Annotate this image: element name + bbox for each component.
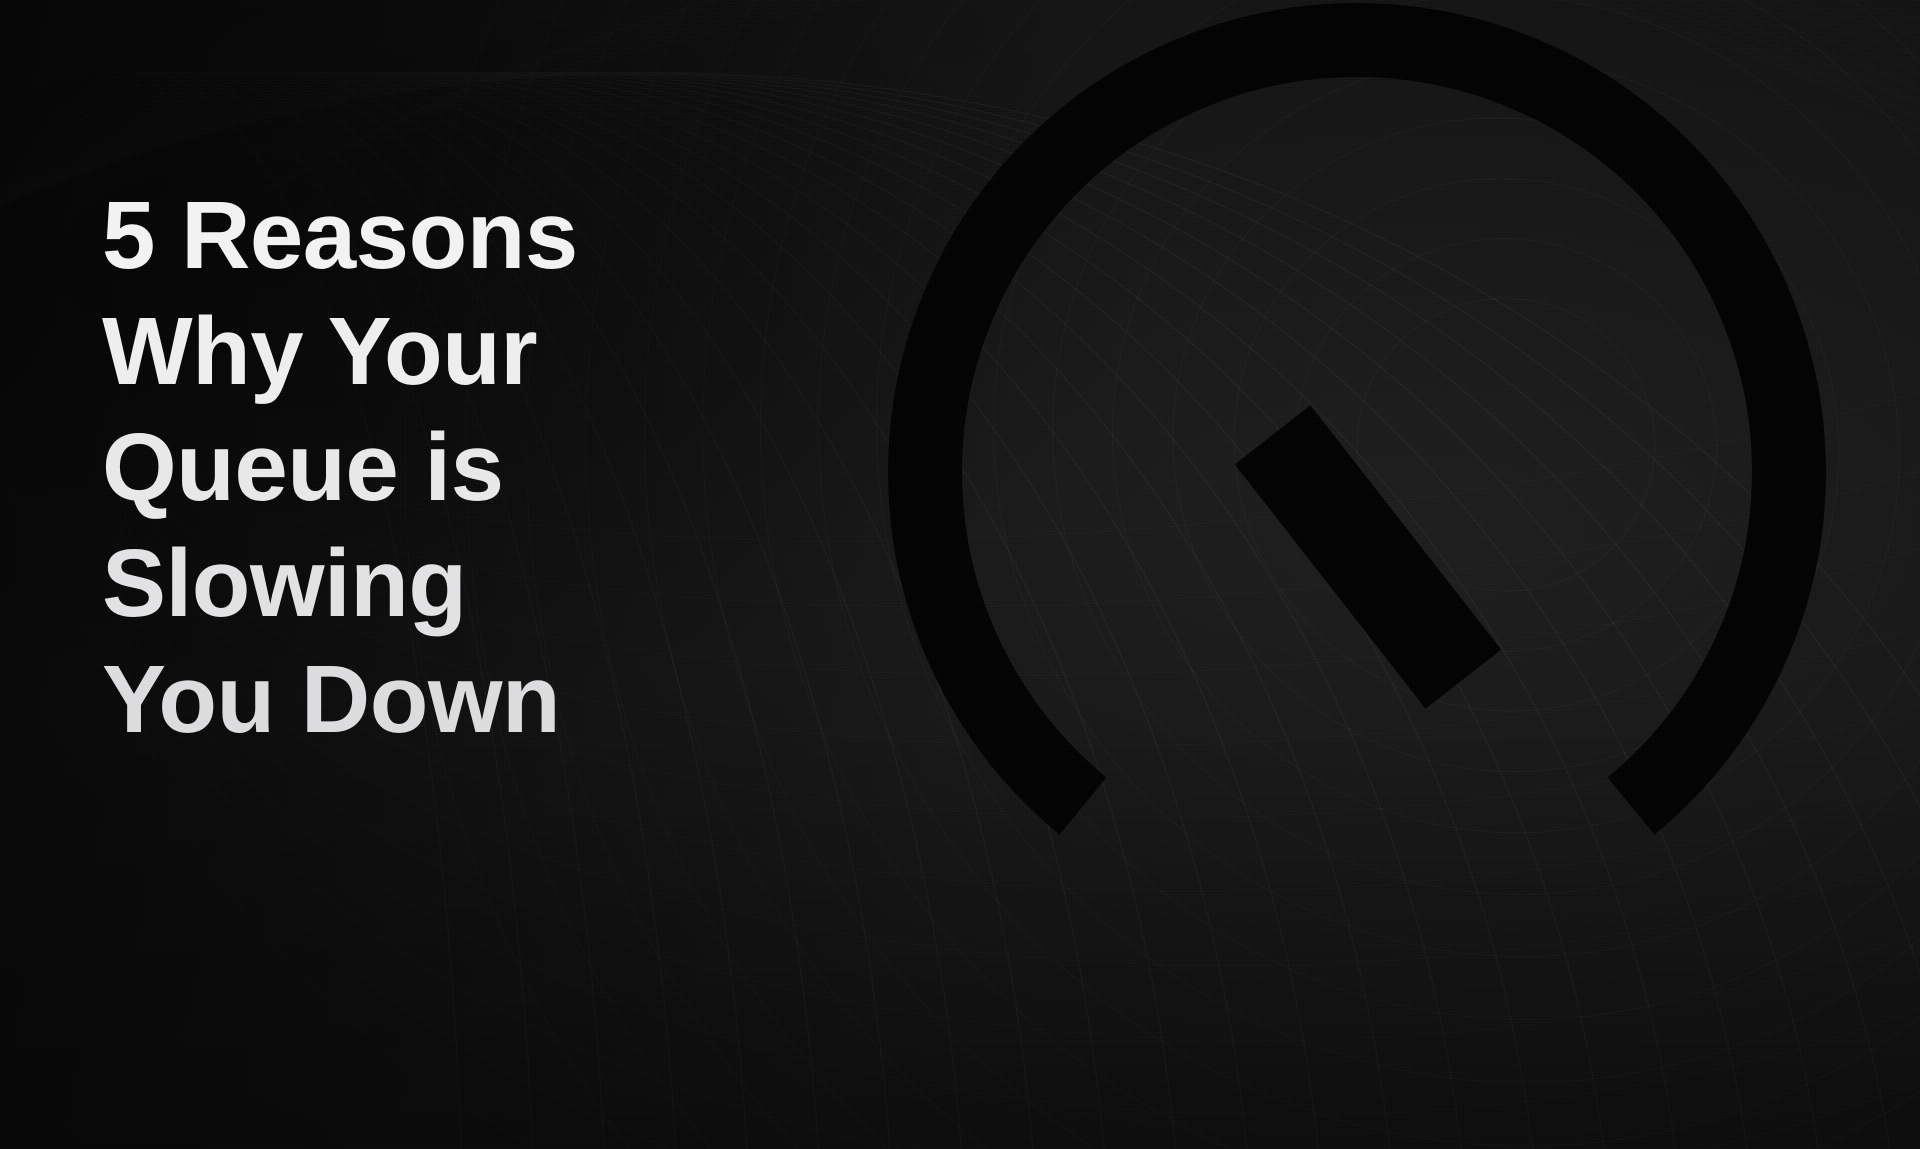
headline-line-1: 5 Reasons [102,178,742,294]
hero-banner: 5 Reasons Why Your Queue is Slowing You … [0,0,1920,1149]
headline-line-2: Why Your [102,294,742,410]
headline-line-4: Slowing [102,526,742,642]
headline-line-5: You Down [102,642,742,758]
page-title: 5 Reasons Why Your Queue is Slowing You … [102,178,742,758]
headline-line-3: Queue is [102,410,742,526]
